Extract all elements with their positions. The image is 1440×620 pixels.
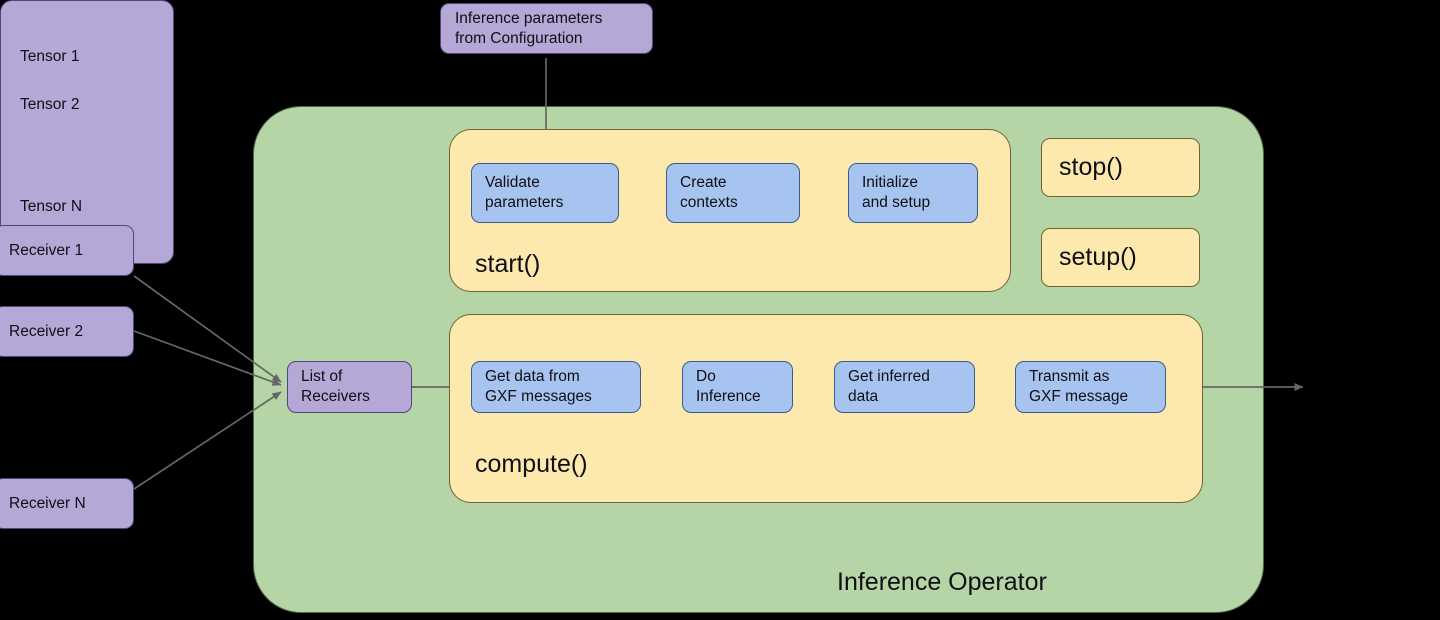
receiver-node-n-label: Receiver N <box>9 494 119 514</box>
receiver-node-2[interactable]: Receiver 2 <box>0 306 134 357</box>
compute-step-transmit-as-gxf-message-label: Transmit as GXF message <box>1029 367 1152 407</box>
tensor-output-line-n: Tensor N <box>20 198 82 216</box>
compute-step-get-data-from-gxf-messages-label: Get data from GXF messages <box>485 367 627 407</box>
compute-step-get-data-from-gxf-messages[interactable]: Get data from GXF messages <box>471 361 641 413</box>
tensor-output-line-2: Tensor 2 <box>20 96 79 114</box>
stop-method-label: stop() <box>1059 153 1123 182</box>
start-method-label: start() <box>475 250 540 279</box>
start-step-create-contexts[interactable]: Create contexts <box>666 163 800 223</box>
compute-step-do-inference-label: Do Inference <box>696 367 779 407</box>
compute-step-get-inferred-data[interactable]: Get inferred data <box>834 361 975 413</box>
diagram-canvas: Inference parameters from Configuration … <box>0 0 1440 620</box>
list-of-receivers-label: List of Receivers <box>301 367 398 407</box>
start-step-initialize-and-setup[interactable]: Initialize and setup <box>848 163 978 223</box>
compute-step-get-inferred-data-label: Get inferred data <box>848 367 961 407</box>
start-step-initialize-and-setup-label: Initialize and setup <box>862 173 964 213</box>
compute-method-label: compute() <box>475 450 588 479</box>
tensor-output-line-1: Tensor 1 <box>20 48 79 66</box>
setup-method-label: setup() <box>1059 243 1137 272</box>
config-node-label: Inference parameters from Configuration <box>455 9 638 49</box>
config-node[interactable]: Inference parameters from Configuration <box>440 3 653 54</box>
compute-step-transmit-as-gxf-message[interactable]: Transmit as GXF message <box>1015 361 1166 413</box>
receiver-node-1-label: Receiver 1 <box>9 241 119 261</box>
stop-method-box[interactable]: stop() <box>1041 138 1200 197</box>
inference-operator-label: Inference Operator <box>837 568 1047 597</box>
start-step-create-contexts-label: Create contexts <box>680 173 786 213</box>
setup-method-box[interactable]: setup() <box>1041 228 1200 287</box>
start-step-validate-parameters-label: Validate parameters <box>485 173 605 213</box>
start-step-validate-parameters[interactable]: Validate parameters <box>471 163 619 223</box>
receiver-node-2-label: Receiver 2 <box>9 322 119 342</box>
receiver-node-1[interactable]: Receiver 1 <box>0 225 134 276</box>
receiver-node-n[interactable]: Receiver N <box>0 478 134 529</box>
list-of-receivers-node[interactable]: List of Receivers <box>287 361 412 413</box>
compute-step-do-inference[interactable]: Do Inference <box>682 361 793 413</box>
